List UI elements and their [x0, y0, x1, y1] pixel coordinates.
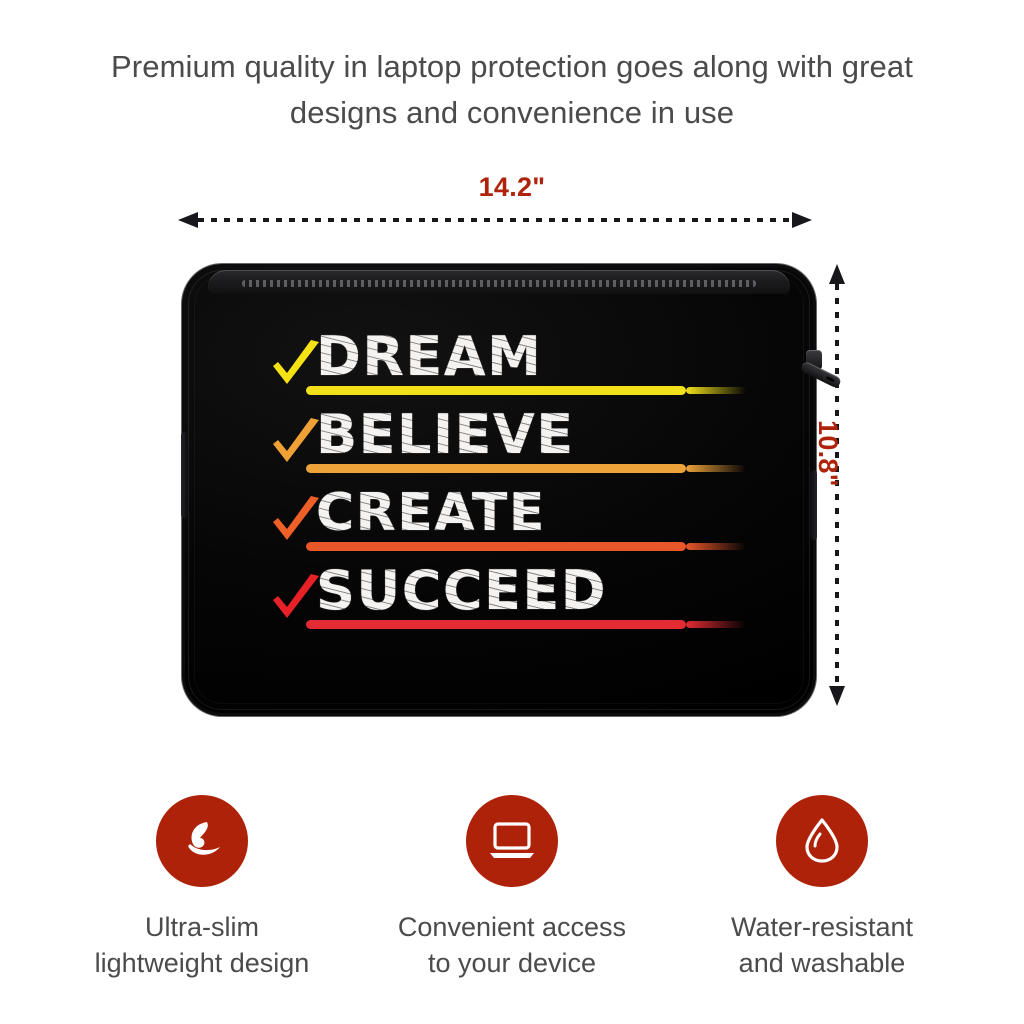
sleeve-artwork: DREAM BELIEVE CREATE — [270, 326, 730, 656]
checkmark-icon — [270, 418, 322, 470]
arrow-right-icon — [792, 212, 812, 228]
water-drop-icon — [799, 816, 845, 866]
feature-icon-badge — [776, 795, 868, 887]
artwork-line: DREAM — [270, 326, 730, 402]
checkmark-icon — [270, 340, 322, 392]
artwork-underline — [306, 620, 686, 629]
dotted-line — [198, 218, 792, 222]
artwork-underline — [306, 386, 686, 395]
feature-icon-badge — [156, 795, 248, 887]
artwork-word: CREATE — [316, 482, 546, 544]
infographic-canvas: Premium quality in laptop protection goe… — [0, 0, 1024, 1024]
feature-item-ultra-slim: Ultra-slim lightweight design — [47, 795, 357, 981]
feature-label: Convenient access to your device — [398, 909, 626, 981]
laptop-icon — [487, 818, 537, 864]
checkmark-icon — [270, 574, 322, 626]
artwork-line: BELIEVE — [270, 404, 730, 480]
feature-label: Water-resistant and washable — [731, 909, 913, 981]
sleeve-side-seam-left — [181, 432, 188, 518]
arrow-down-icon — [829, 686, 845, 706]
headline-text: Premium quality in laptop protection goe… — [0, 44, 1024, 136]
feature-label: Ultra-slim lightweight design — [95, 909, 310, 981]
zipper-teeth — [242, 280, 756, 287]
feature-icon-badge — [466, 795, 558, 887]
horizontal-dimension-arrow — [178, 212, 812, 228]
feature-item-convenient-access: Convenient access to your device — [357, 795, 667, 981]
artwork-underline — [306, 464, 686, 473]
sleeve-side-seam-right — [810, 470, 817, 540]
laptop-sleeve-product: DREAM BELIEVE CREATE — [182, 264, 816, 716]
checkmark-icon — [270, 496, 322, 548]
width-dimension-label: 14.2" — [0, 172, 1024, 203]
artwork-line: CREATE — [270, 482, 730, 558]
arrow-up-icon — [829, 264, 845, 284]
artwork-word: DREAM — [316, 326, 542, 388]
artwork-word: SUCCEED — [316, 560, 607, 622]
artwork-line: SUCCEED — [270, 560, 730, 636]
artwork-word: BELIEVE — [316, 404, 575, 466]
feather-icon — [177, 816, 227, 866]
feature-item-water-resistant: Water-resistant and washable — [667, 795, 977, 981]
zipper-band — [208, 270, 790, 294]
feature-list: Ultra-slim lightweight design Convenient… — [0, 795, 1024, 995]
artwork-underline — [306, 542, 686, 551]
arrow-left-icon — [178, 212, 198, 228]
